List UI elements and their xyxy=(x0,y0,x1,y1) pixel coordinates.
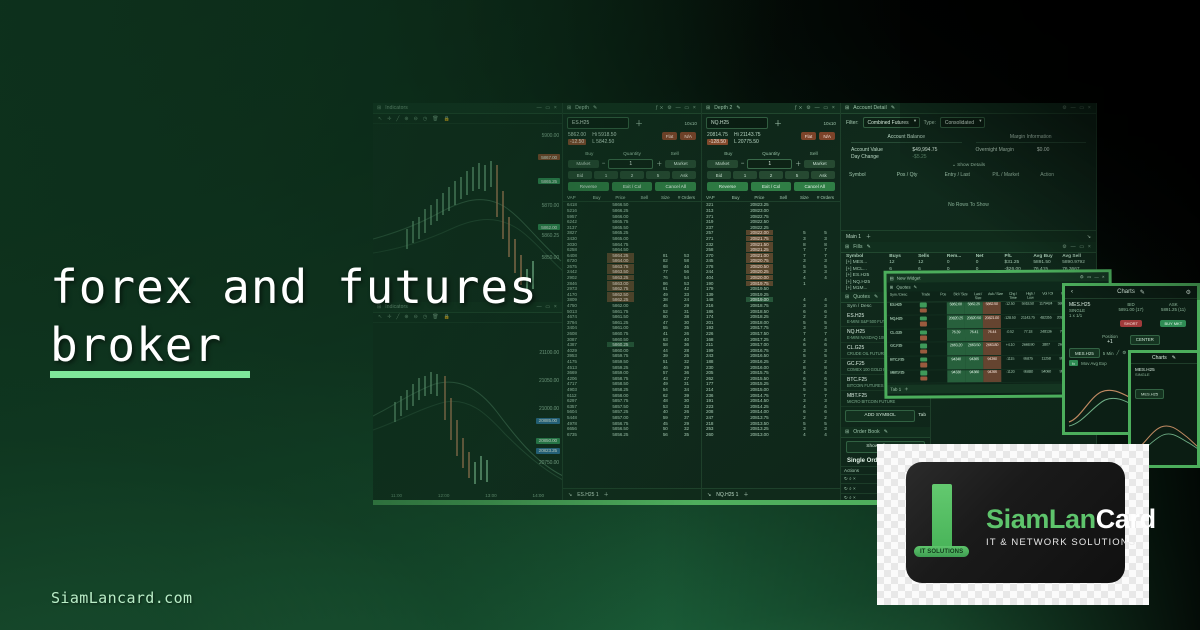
dom-row[interactable]: 16820817.2544 xyxy=(702,336,840,342)
buy-market-button[interactable]: Market xyxy=(707,160,738,169)
chart-es-price-tag: 5867.00 xyxy=(538,154,560,160)
depth-nq-title: Depth 2 xyxy=(714,105,732,111)
col-entry-last: Entry / Last xyxy=(945,172,993,178)
quote-symbol: GC.F25 xyxy=(887,343,918,356)
depth-nq-na-button[interactable]: N/A xyxy=(819,132,835,140)
chart-nq-time-axis: 11:00 12:00 13:00 14:00 xyxy=(373,493,562,498)
window-controls[interactable]: ƒ⨯ ⚙ — ▭ × xyxy=(655,105,697,111)
quote-pos xyxy=(929,329,947,342)
tablet-buy-button[interactable]: BUY MKT xyxy=(1160,320,1186,327)
time-tick: 14:00 xyxy=(533,493,545,498)
account-detail-panel: ⊞ Account Detail ✎ ⚙ — ▭ × Filter: Combi… xyxy=(841,103,1096,242)
phone-chart-symbol[interactable]: MES.H25 xyxy=(1135,389,1164,399)
depth-es-order-entry: Buy Quantity Sell Market − 1 ＋ Market Bi… xyxy=(563,150,701,183)
dom-col-vap: VAP xyxy=(706,195,725,200)
dom-row[interactable]: 21420815.0055 xyxy=(702,387,840,393)
fills-column: Symbol xyxy=(846,254,889,259)
ask-button[interactable]: Ask xyxy=(811,171,835,179)
depth-nq-flat-button[interactable]: Flat xyxy=(801,132,817,140)
quotes-window-tab[interactable]: Tab 1 xyxy=(890,387,901,392)
quote-bid: 20820.25 xyxy=(947,315,965,328)
dom-row[interactable]: 27020821.0077 xyxy=(702,252,840,258)
depth-es-title: Depth xyxy=(575,105,589,111)
quote-ask: 94395 xyxy=(983,370,1001,383)
tablet-study-name: Mov Avg Exp xyxy=(1081,361,1107,366)
quote-pos xyxy=(929,356,947,369)
quotes-window-column: Chg / Time xyxy=(1004,291,1022,301)
edit-icon[interactable]: ✎ xyxy=(1140,289,1145,296)
resize-handle[interactable]: ↘ xyxy=(1087,234,1091,240)
account-value: $49,994.75 xyxy=(912,147,961,153)
quote-symbol: CL.G25 xyxy=(887,329,918,342)
dom-row[interactable]: 31920822.50 xyxy=(702,219,840,225)
day-change-label: Day Change xyxy=(851,154,912,160)
logo-card-inner: IT SOLUTIONS SiamLanCard IT & NETWORK SO… xyxy=(906,462,1125,583)
window-controls[interactable]: ƒ⨯ ⚙ — ▭ × xyxy=(794,105,836,111)
tablet-chart-symbol[interactable]: MES.H25 xyxy=(1069,348,1100,358)
exit-cxl-button[interactable]: Exit / Cxl xyxy=(751,182,792,191)
phone-header: Charts ✎ xyxy=(1131,353,1197,364)
tablet-interval[interactable]: 5 Min xyxy=(1103,351,1114,356)
dom-row[interactable]: 17920819.50 xyxy=(702,286,840,292)
phone-order-type: SINGLE xyxy=(1135,372,1193,377)
margin-title: Margin Information xyxy=(976,134,1087,143)
dom-row[interactable]: 13920819.25 xyxy=(702,292,840,298)
dom-row[interactable]: 25820821.2577 xyxy=(702,247,840,253)
qty-decrement-button[interactable]: − xyxy=(740,161,746,167)
quote-trade-column: Trade xyxy=(917,291,935,301)
filter-label: Filter: xyxy=(846,120,859,126)
day-change-value: -$5.25 xyxy=(912,154,961,160)
dom-col-orders: # Orders xyxy=(676,195,697,200)
depth-nq-summary: 20814.75 -128.50 Hi 21143.75 L 20775.50 … xyxy=(702,132,840,150)
buy-label: Buy xyxy=(707,152,750,157)
window-controls[interactable]: ⚙ — ▭ × xyxy=(1062,105,1092,111)
col-action: Action xyxy=(1040,172,1088,178)
depth-es-flat-button[interactable]: Flat xyxy=(662,132,678,140)
dom-row[interactable]: 31375865.50 xyxy=(563,224,701,230)
edit-icon[interactable]: ✎ xyxy=(913,284,917,290)
dom-row[interactable]: 20520815.7544 xyxy=(702,370,840,376)
depth-es-high: Hi 5918.50 xyxy=(592,132,616,139)
fills-icon: ⊞ xyxy=(845,244,849,250)
dom-row[interactable]: 19120814.5033 xyxy=(702,398,840,404)
dom-row[interactable]: 26220815.5066 xyxy=(702,375,840,381)
add-tab-icon[interactable]: ＋ xyxy=(743,491,748,498)
dom-row[interactable]: 26020813.0044 xyxy=(702,431,840,437)
tablet-center-button[interactable]: CENTER xyxy=(1130,335,1160,345)
restore-icon[interactable]: ↘ xyxy=(568,492,572,498)
col-pl-market: P/L / Market xyxy=(992,172,1040,178)
exit-cxl-button[interactable]: Exit / Cxl xyxy=(612,182,653,191)
quote-trade-buttons[interactable] xyxy=(918,356,929,369)
dom-col-buy: Buy xyxy=(586,195,607,200)
window-controls[interactable]: ⚙ ▭ — × xyxy=(1080,274,1106,280)
sell-label: Sell xyxy=(653,152,696,157)
tablet-title: Charts xyxy=(1117,289,1135,295)
depth-nq-order-entry: Buy Quantity Sell Market − 1 ＋ Market Bi… xyxy=(702,150,840,183)
dom-row[interactable]: 47175858.504931 xyxy=(563,381,701,387)
quote-trade-buttons[interactable] xyxy=(918,370,929,383)
quote-pos xyxy=(929,343,947,356)
phone-title: Charts xyxy=(1152,355,1167,361)
quote-vol: 54060 xyxy=(1037,369,1055,382)
depth-nq-actions: Reverse Exit / Cxl Cancel All xyxy=(702,182,840,194)
dom-row[interactable]: 52165866.25 xyxy=(563,208,701,214)
quote-symbol: BTC.F25 xyxy=(887,357,918,370)
quote-bid: 76.39 xyxy=(947,329,965,342)
gear-icon[interactable]: ⚙ xyxy=(1122,350,1126,356)
depth-nq-header: ⊞ Depth 2 ✎ ƒ⨯ ⚙ — ▭ × xyxy=(702,103,840,114)
overnight-margin-value: $0.00 xyxy=(1037,147,1086,153)
quote-last: 20820.50 xyxy=(965,315,983,328)
dom-row[interactable]: 66565856.505032 xyxy=(563,426,701,432)
logo-wordmark-green: SiamLan xyxy=(986,504,1096,534)
depth-es-low: L 5842.50 xyxy=(592,139,616,146)
quote-hi: 2668.90 xyxy=(1019,342,1037,355)
quote-trade-buttons[interactable] xyxy=(918,343,929,356)
dom-row[interactable]: 20120818.0055 xyxy=(702,320,840,326)
qty-decrement-button[interactable]: − xyxy=(601,161,607,167)
depth-es-tab[interactable]: ES.H25 1 xyxy=(577,492,598,498)
bid-button[interactable]: Bid xyxy=(568,171,592,179)
quote-last: 5862.25 xyxy=(965,302,983,315)
qty-step-1[interactable]: 1 xyxy=(733,171,757,179)
gear-icon[interactable]: ⚙ xyxy=(1186,289,1191,296)
quote-hi: 95875 xyxy=(1019,356,1037,369)
quote-last: 94365 xyxy=(965,356,983,369)
dom-row[interactable]: 24720813.7522 xyxy=(702,415,840,421)
quote-chg: -12.50 xyxy=(1001,301,1019,314)
dom-row[interactable]: 27820820.5055 xyxy=(702,264,840,270)
quote-bid: 5862.00 xyxy=(947,302,965,315)
dom-row[interactable]: 67355856.255635 xyxy=(563,431,701,437)
depth-nq-last: 20814.75 xyxy=(707,132,728,138)
dom-row[interactable]: 62585864.50 xyxy=(563,247,701,253)
quote-ask: 76.44 xyxy=(983,329,1001,342)
dom-row[interactable]: 24420820.2533 xyxy=(702,269,840,275)
dom-row[interactable]: 18620818.5066 xyxy=(702,308,840,314)
filter-select[interactable]: Combined Futures xyxy=(863,117,920,128)
quotes-window-column: Ask / Size xyxy=(987,291,1005,301)
account-detail-header: ⊞ Account Detail ✎ ⚙ — ▭ × xyxy=(841,103,1096,114)
quote-symbol: NQ.H25 xyxy=(887,316,918,329)
quotes-window-column: Last / Size xyxy=(969,291,987,301)
dom-row[interactable]: 64185866.50 xyxy=(563,202,701,208)
restore-icon[interactable]: ↘ xyxy=(707,492,711,498)
quote-ask: 2663.80 xyxy=(983,342,1001,355)
dom-row[interactable]: 61125858.006239 xyxy=(563,392,701,398)
quote-pos xyxy=(929,302,947,315)
quotes-icon: ⊞ xyxy=(890,284,894,290)
order-book-title: Order Book xyxy=(853,429,880,435)
dom-row[interactable]: 21620818.7533 xyxy=(702,303,840,309)
dom-col-size: Size xyxy=(655,195,676,200)
buy-label: Buy xyxy=(568,152,611,157)
qty-label: Quantity xyxy=(611,152,654,157)
quote-symbol: ES.H25 xyxy=(887,302,918,315)
page-title: forex and futures broker xyxy=(50,258,670,375)
quote-trade-buttons[interactable] xyxy=(918,316,929,329)
qty-step-2[interactable]: 2 xyxy=(759,171,783,179)
dom-row[interactable]: 21820813.5055 xyxy=(702,420,840,426)
dom-row[interactable]: 56045857.254026 xyxy=(563,409,701,415)
cancel-all-button[interactable]: Cancel All xyxy=(655,182,696,191)
quote-chg: -1115 xyxy=(1001,356,1019,369)
chart-nq-axis-label: 20750.00 xyxy=(539,460,559,466)
quotes-tab[interactable]: Tab xyxy=(918,413,926,418)
type-select[interactable]: Consolidated xyxy=(940,117,985,128)
chart-es-price-tag: 5862.00 xyxy=(538,224,560,230)
quote-bid: 94340 xyxy=(947,356,965,369)
depth-es-tabbar[interactable]: ↘ ES.H25 1 ＋ xyxy=(563,488,701,500)
add-depth-icon[interactable]: ＋ xyxy=(633,118,643,129)
add-tab-icon[interactable]: ＋ xyxy=(904,386,908,392)
show-details-toggle[interactable]: ⌄ Show Details xyxy=(841,160,1096,170)
dom-row[interactable]: 34305865.00 xyxy=(563,236,701,242)
window-controls[interactable]: ⚙ — ▭ × xyxy=(1062,244,1092,250)
depth-nq-tabbar[interactable]: ↘ NQ.H25 1 ＋ xyxy=(702,488,840,500)
dom-row[interactable]: 23220821.5088 xyxy=(702,241,840,247)
chevron-left-icon[interactable]: ‹ xyxy=(1071,289,1073,295)
quote-last: 2663.50 xyxy=(965,342,983,355)
quantity-input[interactable]: 1 xyxy=(747,159,792,170)
positions-grid-header: Symbol Pos / Qty Entry / Last P/L / Mark… xyxy=(841,170,1096,180)
show-details-label: Show Details xyxy=(957,163,985,168)
chart-nq-axis-label: 21000.00 xyxy=(539,406,559,412)
quote-hi: 95880 xyxy=(1019,369,1037,382)
it-solutions-badge: IT SOLUTIONS xyxy=(914,546,969,557)
accent-underline xyxy=(50,371,250,378)
sell-market-button[interactable]: Market xyxy=(665,160,696,169)
quote-pos xyxy=(929,370,947,383)
dom-row[interactable]: 27120821.7533 xyxy=(702,236,840,242)
depth-es-actions: Reverse Exit / Cxl Cancel All xyxy=(563,182,701,194)
quote-hi: 5918.50 xyxy=(1019,301,1037,314)
tablet-study-badge[interactable]: fx xyxy=(1069,360,1078,366)
grid-icon: ▤ xyxy=(890,275,894,281)
quote-last: 94360 xyxy=(965,370,983,383)
quantity-input[interactable]: 1 xyxy=(608,159,653,170)
dom-row[interactable]: 23620814.7577 xyxy=(702,392,840,398)
account-icon: ⊞ xyxy=(845,105,849,111)
quotes-window-subtitle: Quotes xyxy=(896,285,910,290)
dom-row[interactable]: 25720822.0055 xyxy=(702,230,840,236)
positions-empty-message: No Rows To Show xyxy=(841,180,1096,230)
dom-row[interactable]: 49785856.754529 xyxy=(563,420,701,426)
cancel-all-button[interactable]: Cancel All xyxy=(794,182,835,191)
depth-nq-tab[interactable]: NQ.H25 1 xyxy=(716,492,738,498)
dom-row[interactable]: 17720815.2533 xyxy=(702,381,840,387)
dom-row[interactable]: 38275865.25 xyxy=(563,230,701,236)
edit-icon[interactable]: ✎ xyxy=(891,105,895,111)
dom-row[interactable]: 30305864.75 xyxy=(563,241,701,247)
order-book-icon: ⊞ xyxy=(845,429,849,435)
dom-row[interactable]: 31320823.00 xyxy=(702,208,840,214)
dom-row[interactable]: 20820814.0066 xyxy=(702,409,840,415)
quote-ask: 94390 xyxy=(983,356,1001,369)
dom-row[interactable]: 37120822.75 xyxy=(702,213,840,219)
reverse-button[interactable]: Reverse xyxy=(568,182,609,191)
tablet-short-button[interactable]: SHORT xyxy=(1120,320,1142,327)
dom-row[interactable]: 62425865.75 xyxy=(563,219,701,225)
edit-icon[interactable]: ✎ xyxy=(593,105,597,111)
depth-es-summary: 5862.00 -12.50 Hi 5918.50 L 5842.50 Flat… xyxy=(563,132,701,150)
depth-es-header: ⊞ Depth ✎ ƒ⨯ ⚙ — ▭ × xyxy=(563,103,701,114)
depth-es-symbol-input[interactable]: ES.H25 xyxy=(567,117,629,129)
quote-ask: 5862.50 xyxy=(983,302,1001,315)
time-tick: 13:00 xyxy=(485,493,497,498)
ask-button[interactable]: Ask xyxy=(672,171,696,179)
add-depth-icon[interactable]: ＋ xyxy=(772,118,782,129)
add-tab-icon[interactable]: ＋ xyxy=(604,491,609,498)
qty-increment-button[interactable]: ＋ xyxy=(794,159,802,168)
edit-icon[interactable]: ✎ xyxy=(884,429,888,435)
tablet-quote-row: MES.H25 SINGLE 1 x 1/1 BID 5891.00 (17) … xyxy=(1065,299,1197,333)
col-pos-qty: Pos / Qty xyxy=(897,172,945,178)
chart-nq-price-tag: 20823.25 xyxy=(536,448,560,454)
quote-hi: 21143.75 xyxy=(1019,315,1037,328)
dom-col-vap: VAP xyxy=(567,195,586,200)
edit-icon[interactable]: ✎ xyxy=(867,244,871,250)
col-symbol: Symbol xyxy=(849,172,897,178)
depth-nq-dom-ladder[interactable]: VAP Buy Price Sell Size # Orders 3212082… xyxy=(702,194,840,488)
trendline-icon[interactable]: ╱ xyxy=(1117,350,1120,356)
dom-row[interactable]: 25320813.2533 xyxy=(702,426,840,432)
dom-row[interactable]: 24520820.7533 xyxy=(702,258,840,264)
depth-nq-symbol-input[interactable]: NQ.H25 xyxy=(706,117,768,129)
order-book-header: ⊞ Order Book ✎ xyxy=(841,427,930,438)
quote-bid: 94330 xyxy=(947,370,965,383)
fills-column: Sells xyxy=(918,254,947,259)
quotes-window-column: Sym / Desc xyxy=(887,292,917,302)
site-url: SiamLancard.com xyxy=(51,589,192,607)
dom-row[interactable]: 24320816.5055 xyxy=(702,353,840,359)
quote-trade-buttons[interactable] xyxy=(918,329,929,342)
dom-col-buy: Buy xyxy=(725,195,746,200)
quotes-window-column: Bid / Size xyxy=(952,291,970,301)
dom-row[interactable]: 22320814.2544 xyxy=(702,403,840,409)
sell-label: Sell xyxy=(792,152,835,157)
time-tick: 11:00 xyxy=(391,493,402,498)
dom-col-sell: Sell xyxy=(634,195,655,200)
dom-row[interactable]: 19320817.7533 xyxy=(702,325,840,331)
account-detail-title: Account Detail xyxy=(853,105,887,111)
edit-icon[interactable]: ✎ xyxy=(736,105,740,111)
buy-market-button[interactable]: Market xyxy=(568,160,599,169)
quote-vol: 11258 xyxy=(1037,356,1055,369)
quote-vol: 3807 xyxy=(1037,342,1055,355)
dom-row[interactable]: 18820816.2522 xyxy=(702,359,840,365)
dom-row[interactable]: 42065858.754327 xyxy=(563,375,701,381)
dom-row[interactable]: 22620817.5077 xyxy=(702,331,840,337)
dom-row[interactable]: 14820819.0044 xyxy=(702,297,840,303)
dom-row[interactable]: 63575857.505333 xyxy=(563,403,701,409)
chart-nq-axis-label: 21050.00 xyxy=(539,378,559,384)
tablet-position-value: +1 xyxy=(1102,339,1118,345)
quote-chg: +4.10 xyxy=(1001,342,1019,355)
fills-column: Avg Sell xyxy=(1062,254,1091,259)
quote-ask: 20821.00 xyxy=(983,315,1001,328)
chart-es-price-tag: 5865.25 xyxy=(538,178,560,184)
fills-table-header: SymbolBuysSellsRem...NetP/LAvg BuyAvg Se… xyxy=(841,253,1096,259)
dom-row[interactable]: 49035858.255434 xyxy=(563,387,701,393)
quote-chg: -1120 xyxy=(1001,369,1019,382)
qty-step-5[interactable]: 5 xyxy=(646,171,670,179)
depth-nq-size-tag: 10x10 xyxy=(823,121,840,126)
qty-step-2[interactable]: 2 xyxy=(620,171,644,179)
reverse-button[interactable]: Reverse xyxy=(707,182,748,191)
quote-trade-buttons[interactable] xyxy=(918,302,929,315)
edit-icon[interactable]: ✎ xyxy=(874,294,878,300)
dom-row[interactable]: 21120817.0066 xyxy=(702,342,840,348)
dom-row[interactable]: 23720822.25 xyxy=(702,224,840,230)
depth-es-change: -12.50 xyxy=(568,139,586,145)
quotes-window-column: Vol / OI xyxy=(1039,291,1057,301)
logo-card: IT SOLUTIONS SiamLanCard IT & NETWORK SO… xyxy=(877,444,1149,605)
edit-icon[interactable]: ✎ xyxy=(1172,355,1176,361)
dom-row[interactable]: 40420820.0044 xyxy=(702,275,840,281)
bid-button[interactable]: Bid xyxy=(707,171,731,179)
account-value-label: Account Value xyxy=(851,147,912,153)
quote-bid: 2663.20 xyxy=(947,343,965,356)
account-detail-tabbar[interactable]: Main 1 ＋ ↘ xyxy=(841,230,1096,242)
fills-column: Net xyxy=(976,254,1005,259)
chart-es-axis-label: 5900.00 xyxy=(542,133,559,139)
quotes-window-column: Pos xyxy=(934,291,952,301)
quote-chg: -0.52 xyxy=(1001,329,1019,342)
quote-hi: 77.18 xyxy=(1019,329,1037,342)
fills-column: Rem... xyxy=(947,254,976,259)
fills-column: Avg Buy xyxy=(1033,254,1062,259)
dom-row[interactable]: 19020819.751 xyxy=(702,280,840,286)
add-tab-icon[interactable]: ＋ xyxy=(866,233,871,240)
qty-increment-button[interactable]: ＋ xyxy=(655,159,663,168)
logo-wordmark-white: Card xyxy=(1096,504,1156,534)
dom-col-price: Price xyxy=(746,195,772,200)
qty-step-1[interactable]: 1 xyxy=(594,171,618,179)
dom-row[interactable]: 23020816.0088 xyxy=(702,364,840,370)
logo-text-group: SiamLanCard IT & NETWORK SOLUTIONS xyxy=(986,506,1156,548)
fills-column: P/L xyxy=(1005,254,1034,259)
add-symbol-button[interactable]: ADD SYMBOL xyxy=(845,410,915,422)
depth-es-size-tag: 10x10 xyxy=(684,121,701,126)
dom-header: VAP Buy Price Sell Size # Orders xyxy=(702,194,840,202)
dom-header: VAP Buy Price Sell Size # Orders xyxy=(563,194,701,202)
dom-row[interactable]: 59575866.00 xyxy=(563,213,701,219)
dom-col-sell: Sell xyxy=(773,195,794,200)
chart-es-axis-label: 5870.00 xyxy=(542,203,559,209)
quote-symbol: MBT.F25 xyxy=(887,370,918,383)
account-detail-tab[interactable]: Main 1 xyxy=(846,234,861,240)
depth-es-na-button[interactable]: N/A xyxy=(680,132,696,140)
dom-row[interactable]: 17420818.2522 xyxy=(702,314,840,320)
dom-col-price: Price xyxy=(607,195,633,200)
dom-row[interactable]: 54485857.005937 xyxy=(563,415,701,421)
account-detail-filters: Filter: Combined Futures Type: Consolida… xyxy=(841,114,1096,131)
sell-market-button[interactable]: Market xyxy=(804,160,835,169)
account-balance-group: Account Balance Account Value$49,994.75 … xyxy=(851,134,962,160)
fills-row[interactable]: [+] MES...121200$31.255891.505890.9792 xyxy=(841,260,1096,266)
dom-row[interactable]: 32120823.25 xyxy=(702,202,840,208)
dom-row[interactable]: 19920816.7533 xyxy=(702,348,840,354)
quote-last: 76.41 xyxy=(965,329,983,342)
dom-row[interactable]: 62975857.754830 xyxy=(563,398,701,404)
depth-icon: ⊞ xyxy=(706,105,710,111)
qty-step-5[interactable]: 5 xyxy=(785,171,809,179)
logo-wordmark: SiamLanCard xyxy=(986,506,1156,533)
time-tick: 12:00 xyxy=(438,493,450,498)
